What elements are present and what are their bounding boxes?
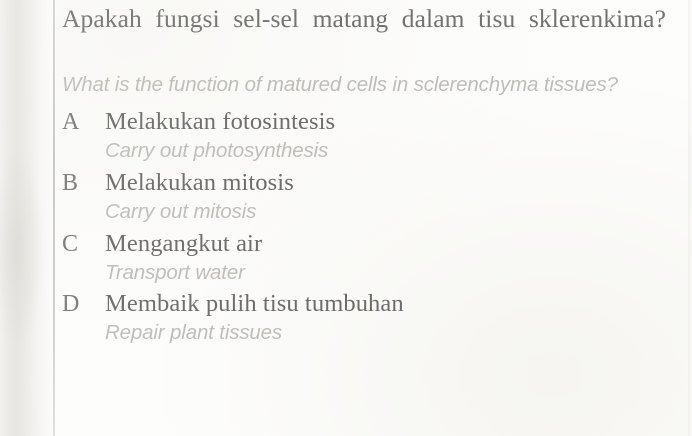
answer-option-b[interactable]: B Melakukan mitosis Carry out mitosis [62,168,672,230]
option-a-text-malay: Melakukan fotosintesis [105,107,672,137]
answer-option-a[interactable]: A Melakukan fotosintesis Carry out photo… [62,107,672,169]
question-stem-malay: Apakah fungsi sel-sel matang dalam tisu … [62,0,666,68]
option-letter-a: A [62,107,92,137]
option-b-text-english: Carry out mitosis [105,198,672,226]
option-b-text-malay: Melakukan mitosis [105,168,672,198]
option-b-body: Melakukan mitosis Carry out mitosis [105,168,672,226]
question-block: Apakah fungsi sel-sel matang dalam tisu … [62,0,672,351]
answer-option-c[interactable]: C Mengangkut air Transport water [62,229,672,291]
answer-option-d[interactable]: D Membaik pulih tisu tumbuhan Repair pla… [62,289,672,351]
scanned-textbook-page: Apakah fungsi sel-sel matang dalam tisu … [0,0,692,436]
option-letter-c: C [62,229,92,259]
spine-smudge [0,150,44,350]
question-stem-english: What is the function of matured cells in… [62,71,662,98]
option-a-body: Melakukan fotosintesis Carry out photosy… [105,107,672,165]
option-d-text-malay: Membaik pulih tisu tumbuhan [105,289,672,319]
book-spine-shadow [0,0,56,436]
option-c-text-english: Transport water [105,259,672,287]
page-edge-line [53,0,55,436]
option-c-body: Mengangkut air Transport water [105,229,672,287]
option-letter-d: D [62,289,92,319]
option-a-text-english: Carry out photosynthesis [105,137,672,165]
answer-options-list: A Melakukan fotosintesis Carry out photo… [62,107,672,351]
option-letter-b: B [62,168,92,198]
option-d-body: Membaik pulih tisu tumbuhan Repair plant… [105,289,672,347]
option-c-text-malay: Mengangkut air [105,229,672,259]
option-d-text-english: Repair plant tissues [105,319,672,347]
right-page-edge [688,0,692,436]
